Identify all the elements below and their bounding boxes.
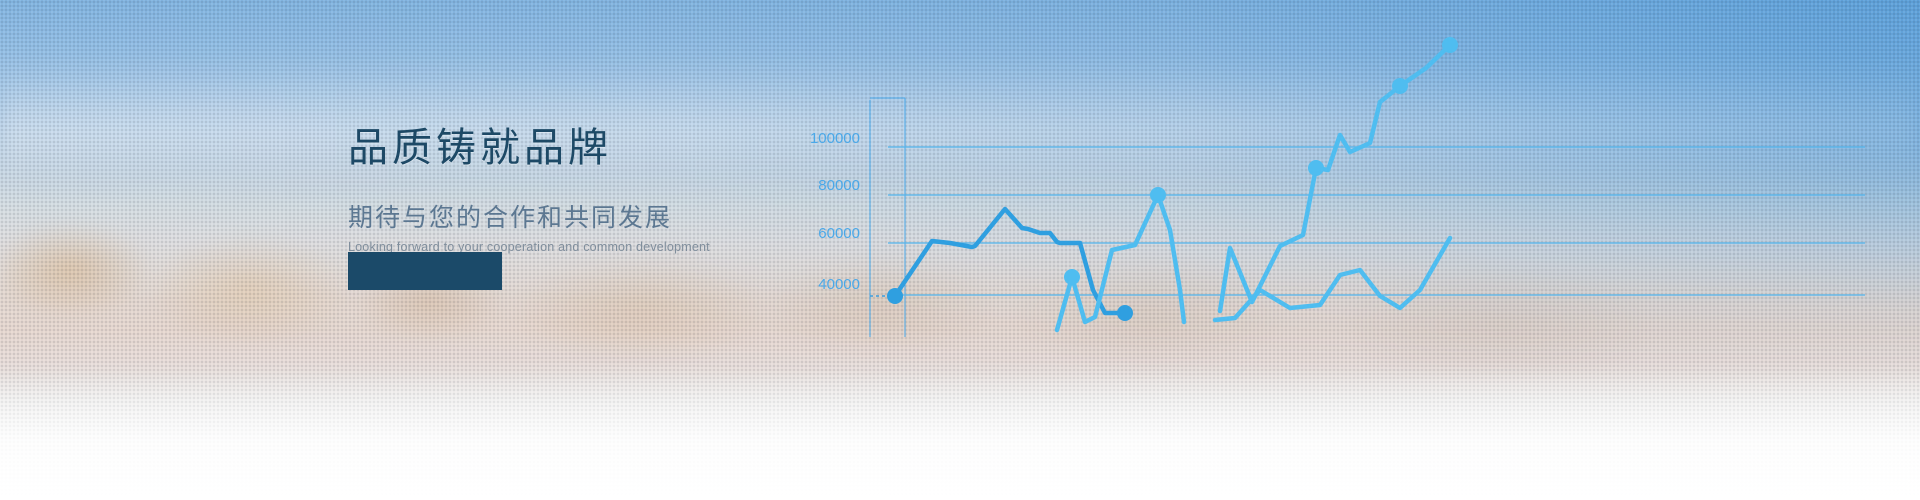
- cta-button[interactable]: [348, 252, 502, 290]
- hero-banner: 100000 80000 60000 40000: [0, 0, 1920, 500]
- chart-series-3-marker-high: [1392, 78, 1408, 94]
- chart-series-3-line: [1220, 45, 1450, 311]
- chart-series-1-marker-start: [887, 288, 903, 304]
- banner-copy: 品质铸就品牌 期待与您的合作和共同发展 Looking forward to y…: [348, 126, 988, 254]
- chart-series-3-marker-top: [1442, 37, 1458, 53]
- banner-subheading: 期待与您的合作和共同发展: [348, 198, 988, 234]
- chart-series-2-marker-peak-a: [1064, 269, 1080, 285]
- page-title: 品质铸就品牌: [348, 126, 988, 170]
- chart-gridlines: [888, 147, 1865, 295]
- chart-series-1-marker-end: [1117, 305, 1133, 321]
- chart-series-2-marker-peak-b: [1150, 187, 1166, 203]
- y-tick-label-40000: 40000: [818, 276, 860, 293]
- chart-series-4-line: [1215, 238, 1450, 320]
- chart-series-3-marker-mid: [1308, 160, 1324, 176]
